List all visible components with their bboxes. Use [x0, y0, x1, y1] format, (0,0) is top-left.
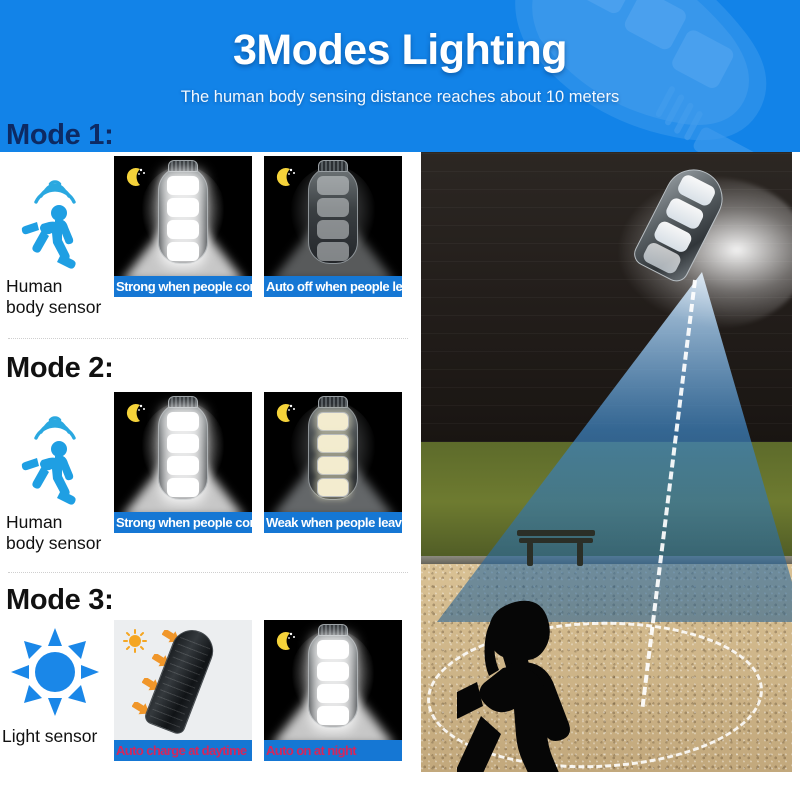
infographic-page: 3Modes Lighting The human body sensing d…	[0, 0, 800, 800]
mode-1-thumb-2-image	[264, 156, 402, 276]
mode-3-sensor-label-line1: Light sensor	[2, 726, 110, 747]
mode-2-thumb-2-caption: Weak when people leaves	[264, 512, 402, 533]
page-title: 3Modes Lighting	[0, 26, 800, 75]
sun-icon	[123, 629, 147, 653]
mode-1-thumb-2[interactable]: Auto off when people leaves	[264, 156, 402, 297]
mode-1-sensor-label-line2: body sensor	[6, 297, 110, 318]
mode-1-thumb-1-image	[114, 156, 252, 276]
radar-demo-photo: 10m radar sensor	[421, 152, 792, 772]
page-subtitle: The human body sensing distance reaches …	[0, 88, 800, 107]
mode-2-thumb-1-caption: Strong when people comes	[114, 512, 252, 533]
mode-2-sensor-label-line2: body sensor	[6, 533, 110, 554]
sun-icon	[0, 622, 110, 726]
mode-2-thumb-1-image	[114, 392, 252, 512]
mode-3-thumb-2-image	[264, 620, 402, 740]
mode-1-title-band: Mode 1:	[0, 118, 418, 152]
moon-icon	[122, 164, 148, 190]
mode-2-thumb-2-image	[264, 392, 402, 512]
mode-3-thumb-1[interactable]: Auto charge at daytime	[114, 620, 252, 761]
street-lamp-icon	[308, 160, 358, 264]
mode-1-thumb-1-caption: Strong when people comes	[114, 276, 252, 297]
bench-icon	[517, 524, 595, 568]
modes-column: Human body sensor	[0, 152, 418, 772]
moon-icon	[272, 628, 298, 654]
street-lamp-icon	[308, 396, 358, 500]
running-person-silhouette-icon	[457, 594, 587, 772]
mode-3-sensor: Light sensor	[0, 622, 110, 747]
mode-2-sensor-label: Human body sensor	[0, 512, 110, 553]
mode-1-thumb-2-caption: Auto off when people leaves	[264, 276, 402, 297]
mode-1-row: Human body sensor	[0, 152, 418, 348]
mode-1-thumb-1[interactable]: Strong when people comes	[114, 156, 252, 297]
mode-1-title: Mode 1:	[6, 119, 113, 152]
mode-3-thumb-2[interactable]: Auto on at night	[264, 620, 402, 761]
mode-2-row: Mode 2:	[0, 348, 418, 580]
mode-1-sensor-label: Human body sensor	[0, 276, 110, 317]
mode-3-thumb-1-image	[114, 620, 252, 740]
mode-1-sensor: Human body sensor	[0, 158, 110, 317]
mode-2-sensor: Human body sensor	[0, 394, 110, 553]
mode-2-sensor-label-line1: Human	[6, 512, 110, 533]
moon-icon	[272, 164, 298, 190]
mode-3-row: Mode 3:	[0, 580, 418, 770]
radar-wave-walking-person-icon	[0, 158, 110, 276]
mode-2-title: Mode 2:	[6, 352, 113, 385]
section-divider	[8, 338, 408, 339]
moon-icon	[122, 400, 148, 426]
mode-3-sensor-label: Light sensor	[0, 726, 110, 747]
street-lamp-icon	[308, 624, 358, 728]
mode-3-thumb-2-caption: Auto on at night	[264, 740, 402, 761]
mode-2-thumb-1[interactable]: Strong when people comes	[114, 392, 252, 533]
mode-1-sensor-label-line1: Human	[6, 276, 110, 297]
mode-2-thumb-2[interactable]: Weak when people leaves	[264, 392, 402, 533]
street-lamp-icon	[443, 0, 800, 152]
radar-wave-walking-person-icon	[0, 394, 110, 512]
mode-3-thumb-1-caption: Auto charge at daytime	[114, 740, 252, 761]
moon-icon	[272, 400, 298, 426]
section-divider	[8, 572, 408, 573]
mode-3-title: Mode 3:	[6, 584, 113, 617]
street-lamp-icon	[158, 160, 208, 264]
street-lamp-icon	[158, 396, 208, 500]
